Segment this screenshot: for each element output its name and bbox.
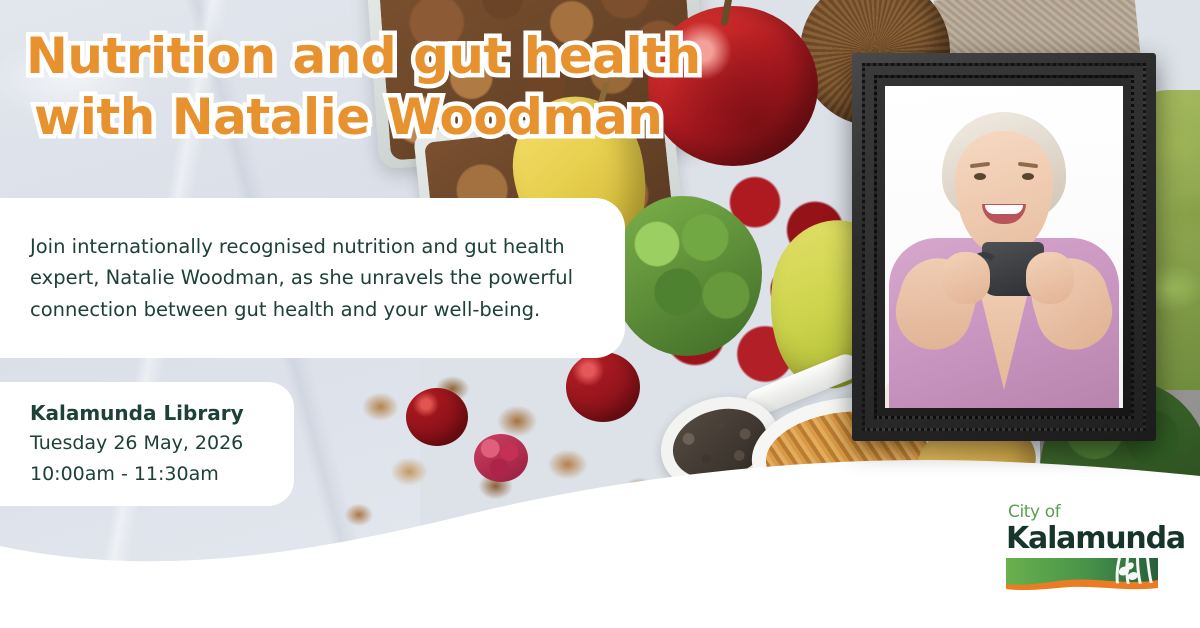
cherry-middle [566,352,640,422]
logo-wave-band [1006,558,1158,590]
left-eye [974,173,986,180]
face [955,131,1053,253]
event-date: Tuesday 26 May, 2026 [30,428,294,459]
portrait-frame [852,53,1156,441]
title-block: Nutrition and gut health with Natalie Wo… [26,30,701,144]
presenter-portrait-photo [885,86,1123,408]
right-eye [1022,173,1034,180]
event-title-line-2: with Natalie Woodman [34,91,701,144]
logo-wave-graphic [1006,558,1158,590]
right-hand [1026,252,1074,304]
description-panel: Join internationally recognised nutritio… [0,198,625,358]
logo-city-of-text: City of [1008,504,1162,521]
frame-bead-outer [862,63,1146,431]
broccoli-floret-upper [612,196,762,356]
event-promo-banner: Nutrition and gut health with Natalie Wo… [0,0,1200,628]
event-venue: Kalamunda Library [30,398,294,428]
frame-bead-inner [874,75,1134,419]
event-title-line-1: Nutrition and gut health [26,30,701,83]
event-time: 10:00am - 11:30am [30,459,294,490]
event-description: Join internationally recognised nutritio… [0,231,625,326]
logo-kalamunda-text: Kalamunda [1006,523,1162,555]
left-hand [942,252,990,304]
city-of-kalamunda-logo: City of Kalamunda [1006,504,1162,590]
event-details-panel: Kalamunda Library Tuesday 26 May, 2026 1… [0,382,294,506]
